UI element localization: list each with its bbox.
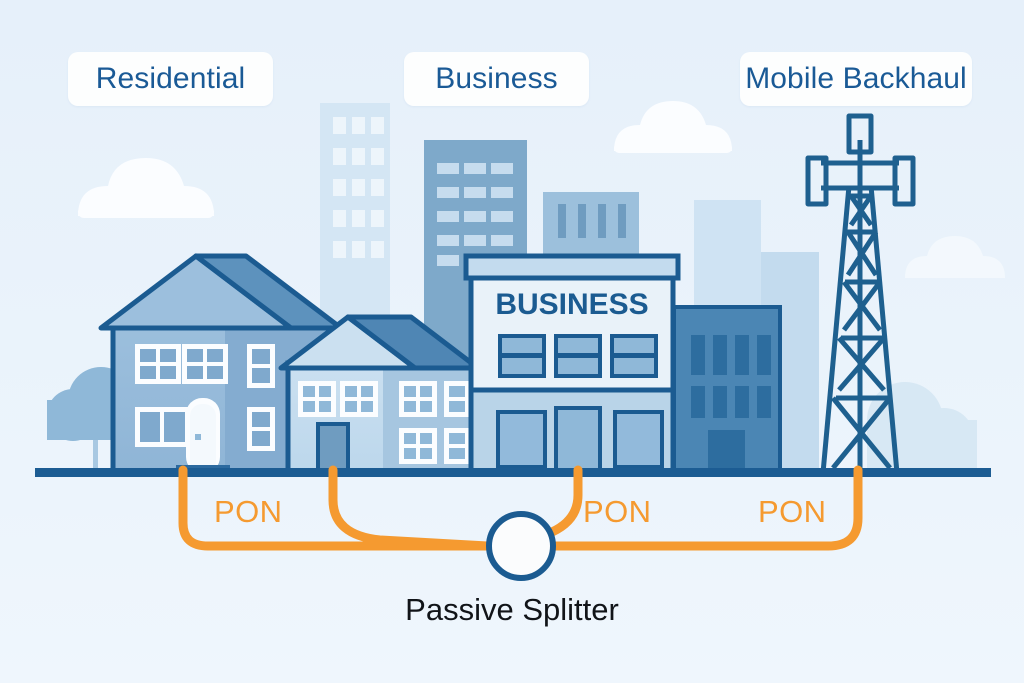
fiber-network-diagram: BUSINESS (0, 0, 1024, 683)
pon-link-label: PON (758, 494, 826, 530)
splitter-caption-text: Passive Splitter (405, 592, 619, 628)
window-icon (247, 344, 275, 388)
pon-link-label: PON (583, 494, 651, 530)
window-icon (247, 407, 275, 451)
category-label-text: Residential (96, 62, 246, 96)
storefront-sign-text: BUSINESS (495, 288, 648, 321)
category-label-business: Business (404, 52, 589, 106)
window-icon (135, 407, 190, 447)
pon-link-label: PON (214, 494, 282, 530)
category-label-text: Mobile Backhaul (745, 62, 967, 96)
category-label-mobile-backhaul: Mobile Backhaul (740, 52, 972, 106)
window-icon (135, 344, 181, 384)
splitter-caption: Passive Splitter (0, 592, 1024, 628)
category-label-text: Business (435, 62, 558, 96)
category-label-residential: Residential (68, 52, 273, 106)
office-building-icon (674, 307, 780, 473)
door-icon (186, 398, 220, 473)
window-icon (500, 336, 656, 376)
window-icon (182, 344, 228, 384)
ground-line (35, 468, 991, 477)
door-icon (556, 408, 600, 473)
splitter-node-icon[interactable] (489, 514, 553, 578)
storefront-icon: BUSINESS (466, 256, 678, 473)
